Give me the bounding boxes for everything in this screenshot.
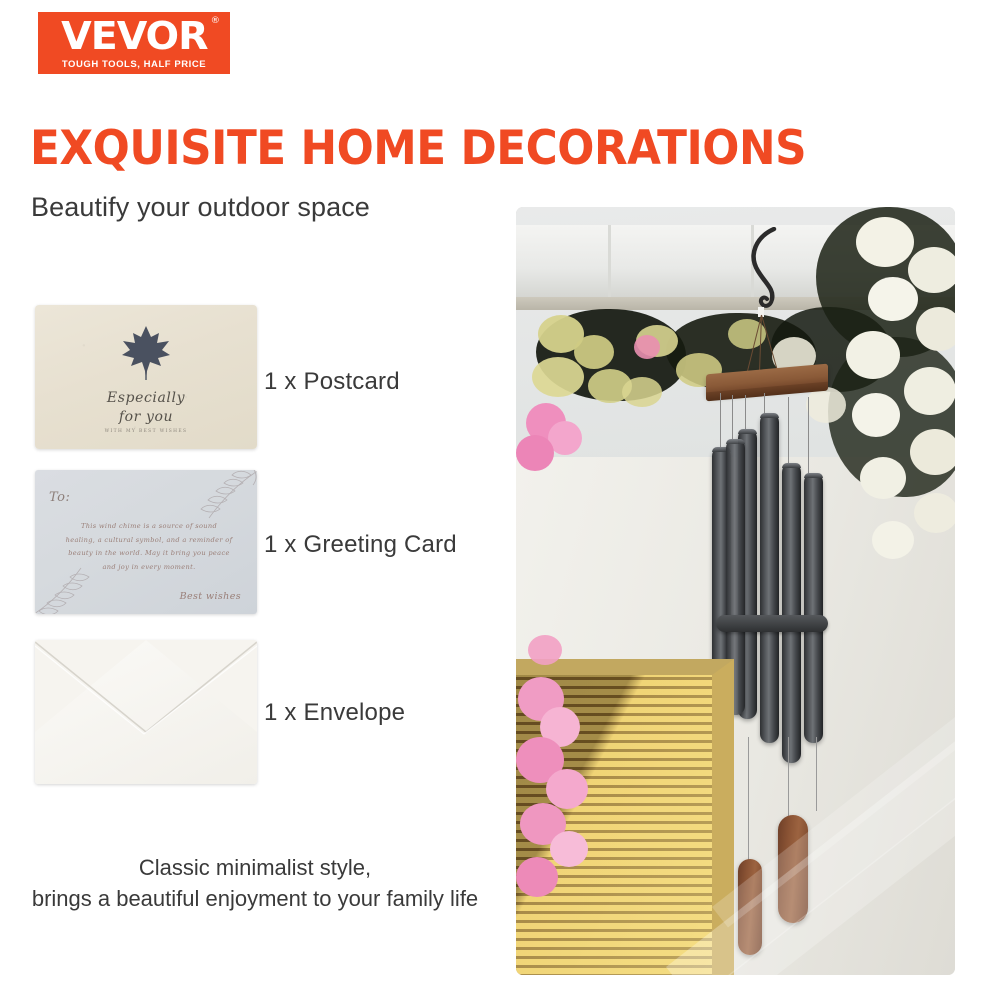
- blossom-cluster: [622, 377, 662, 407]
- envelope-fold-lines: [35, 640, 257, 784]
- pink-flower: [546, 769, 588, 809]
- s-hook-icon: [744, 227, 790, 313]
- white-flower-cluster: [868, 277, 918, 321]
- blossom-cluster: [532, 357, 584, 397]
- pink-flower: [516, 435, 554, 471]
- chime-tube: [804, 473, 823, 743]
- clapper-ring: [716, 615, 828, 632]
- registered-trademark-icon: ®: [210, 17, 218, 26]
- greeting-card-signoff: Best wishes: [180, 591, 241, 602]
- page-subheadline: Beautify your outdoor space: [31, 192, 370, 223]
- caption-line-2: brings a beautiful enjoyment to your fam…: [30, 883, 480, 914]
- chime-tube: [782, 463, 801, 763]
- tube-string: [808, 397, 809, 475]
- postcard-script-line1: Especially: [35, 389, 257, 408]
- postcard-image: Especially for you WITH MY BEST WISHES: [35, 305, 257, 449]
- white-flower-cluster: [910, 429, 955, 475]
- vevor-logo: VEVOR® TOUGH TOOLS, HALF PRICE: [38, 12, 230, 74]
- tube-string: [788, 397, 789, 465]
- postcard-micro-text: WITH MY BEST WISHES: [35, 429, 257, 434]
- postcard-script-line2: for you: [35, 408, 257, 427]
- white-flower-cluster: [914, 493, 955, 533]
- postcard-script: Especially for you: [35, 389, 257, 428]
- sail-cord: [816, 737, 817, 811]
- brand-wordmark: VEVOR®: [61, 17, 207, 55]
- chime-tube: [760, 413, 779, 743]
- pink-flower: [516, 857, 558, 897]
- greeting-card-to-label: To:: [49, 490, 70, 505]
- pink-flower: [528, 635, 562, 665]
- product-photo: [516, 207, 955, 975]
- item-label-envelope: 1 x Envelope: [264, 699, 405, 727]
- bottom-caption: Classic minimalist style, brings a beaut…: [30, 852, 480, 914]
- white-flower-cluster: [806, 387, 846, 423]
- white-flower-cluster: [908, 247, 955, 293]
- pink-flower: [634, 335, 660, 359]
- white-flower-cluster: [852, 393, 900, 437]
- white-flower-cluster: [872, 521, 914, 559]
- white-flower-cluster: [856, 217, 914, 267]
- blossom-cluster: [574, 335, 614, 369]
- tube-string: [720, 393, 721, 447]
- white-flower-cluster: [904, 367, 955, 415]
- maple-leaf-icon: [120, 324, 172, 382]
- sail-cord: [748, 737, 749, 865]
- page-headline: EXQUISITE HOME DECORATIONS: [30, 125, 681, 172]
- item-label-greeting-card: 1 x Greeting Card: [264, 531, 457, 559]
- white-flower-cluster: [846, 331, 900, 379]
- white-flower-cluster: [860, 457, 906, 499]
- sail-cord: [788, 737, 789, 823]
- white-flower-cluster: [916, 307, 955, 351]
- envelope-image: [35, 640, 257, 784]
- tube-string: [764, 393, 765, 415]
- beam-seam: [608, 225, 611, 297]
- brand-tagline: TOUGH TOOLS, HALF PRICE: [62, 59, 206, 70]
- tube-string: [732, 395, 733, 439]
- greeting-card-image: To: This wind chime is a source of sound…: [35, 470, 257, 614]
- tube-string: [745, 395, 746, 431]
- caption-line-1: Classic minimalist style,: [30, 852, 480, 883]
- item-label-postcard: 1 x Postcard: [264, 368, 400, 396]
- greeting-card-message: This wind chime is a source of sound hea…: [65, 520, 233, 574]
- pink-flower: [550, 831, 588, 867]
